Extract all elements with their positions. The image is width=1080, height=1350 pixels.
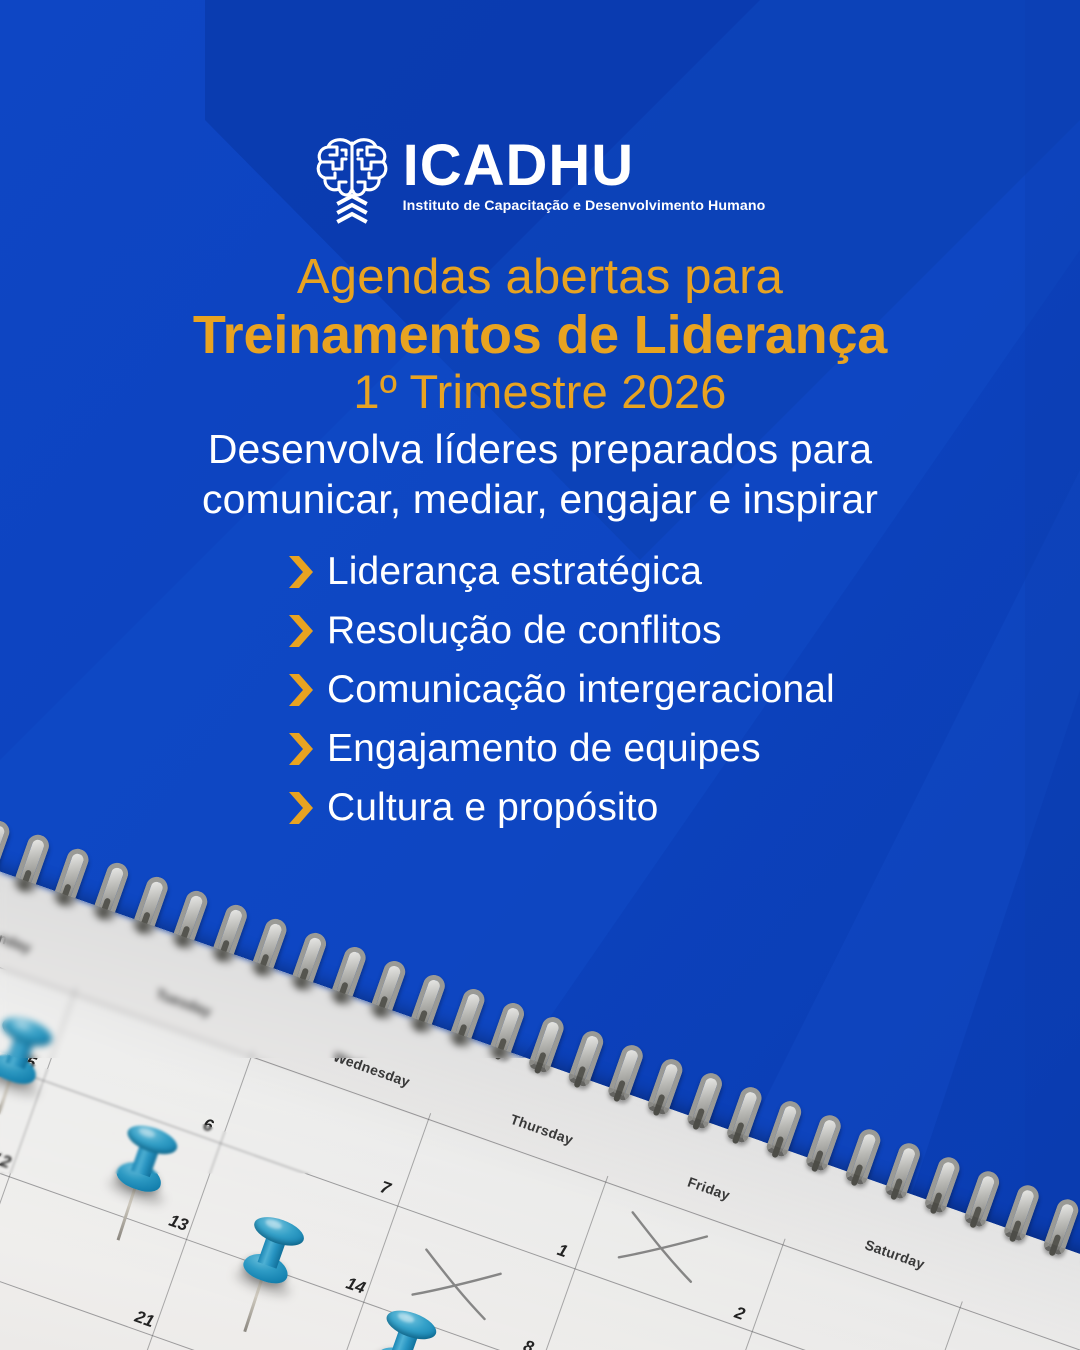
calendar-date: 1 — [555, 1240, 571, 1262]
calendar-date: 2 — [732, 1303, 748, 1325]
subtitle-line-2: comunicar, mediar, engajar e inspirar — [0, 474, 1080, 524]
list-item: Cultura e propósito — [288, 788, 835, 827]
list-item: Comunicação intergeracional — [288, 670, 835, 709]
calendar-photo: Monday Tuesday Wednesday Thursday Friday… — [0, 781, 1080, 1350]
topics-list: Liderança estratégica Resolução de confl… — [288, 552, 835, 827]
list-item-label: Cultura e propósito — [327, 788, 658, 827]
chevron-right-icon — [288, 673, 314, 707]
headline-line-3: 1º Trimestre 2026 — [0, 365, 1080, 420]
calendar-date: 6 — [200, 1115, 216, 1137]
subtitle-group: Desenvolva líderes preparados para comun… — [0, 424, 1080, 524]
headline-line-1: Agendas abertas para — [0, 250, 1080, 305]
list-item: Liderança estratégica — [288, 552, 835, 591]
list-item: Resolução de conflitos — [288, 611, 835, 650]
chevron-right-icon — [288, 614, 314, 648]
logo-wordmark: ICADHU — [403, 138, 635, 194]
chevron-right-icon — [288, 732, 314, 766]
calendar-date: 8 — [521, 1336, 537, 1350]
list-item-label: Liderança estratégica — [327, 552, 702, 591]
chevron-right-icon — [288, 555, 314, 589]
brand-logo: ICADHU Instituto de Capacitação e Desenv… — [0, 128, 1080, 224]
list-item: Engajamento de equipes — [288, 729, 835, 768]
poster-canvas: ICADHU Instituto de Capacitação e Desenv… — [0, 0, 1080, 1350]
list-item-label: Resolução de conflitos — [327, 611, 722, 650]
subtitle-line-1: Desenvolva líderes preparados para — [0, 424, 1080, 474]
list-item-label: Comunicação intergeracional — [327, 670, 835, 709]
logo-tagline: Instituto de Capacitação e Desenvolvimen… — [403, 198, 766, 214]
headline-line-2: Treinamentos de Liderança — [0, 305, 1080, 365]
headline-group: Agendas abertas para Treinamentos de Lid… — [0, 250, 1080, 420]
list-item-label: Engajamento de equipes — [327, 729, 761, 768]
brain-tree-icon — [315, 128, 389, 224]
chevron-right-icon — [288, 791, 314, 825]
calendar-date: 7 — [377, 1177, 393, 1199]
